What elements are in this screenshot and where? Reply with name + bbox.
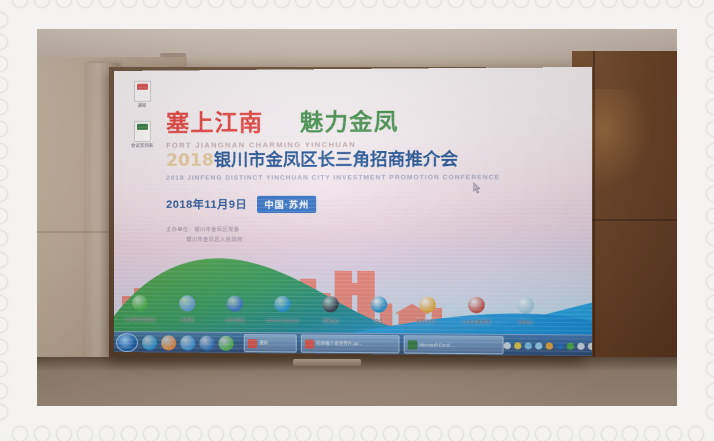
perforation-dot — [707, 275, 714, 289]
perforation-dot — [707, 78, 714, 92]
perforation-dot — [667, 0, 681, 7]
perforation-dot — [514, 427, 528, 441]
computer-icon[interactable]: 计算机 — [165, 293, 209, 323]
app-icon-glyph — [467, 297, 486, 318]
windows-taskbar[interactable]: 通知招商推介会宣传片.pp...Microsoft Excel ... 23:0… — [114, 331, 592, 356]
perforation-row-left — [0, 13, 7, 427]
perforation-dot — [707, 318, 714, 332]
perforation-dot — [707, 340, 714, 354]
safe360-icon-glyph — [131, 295, 149, 315]
taskbar-window-document-label: 通知 — [259, 340, 268, 346]
perforation-row-bottom — [13, 427, 711, 441]
taskbar-window-excel-label: Microsoft Excel ... — [419, 342, 455, 347]
security-quick-icon[interactable] — [199, 335, 214, 350]
perforation-dot — [0, 57, 7, 71]
system-tray[interactable]: 23:09 2018/11/8 — [504, 338, 592, 353]
perforation-dot — [340, 0, 354, 7]
perforation-dot — [0, 13, 7, 27]
mouse-pointer — [473, 182, 481, 193]
taskbar-window-excel-icon — [408, 340, 417, 349]
perforation-dot — [0, 340, 7, 354]
start-button[interactable] — [116, 333, 138, 352]
poster-subtitle: 2018银川市金凤区长三角招商推介会 — [166, 151, 578, 170]
perforation-dot — [707, 166, 714, 180]
antivirus-icon[interactable] — [546, 342, 553, 349]
perforation-dot — [253, 427, 267, 441]
perforation-dot — [122, 0, 136, 7]
perforation-dot — [707, 122, 714, 136]
perforation-dot — [707, 296, 714, 310]
messenger-quick-icon[interactable] — [180, 335, 195, 350]
perforation-dot — [35, 427, 49, 441]
recycle-bin-icon-glyph — [516, 297, 535, 318]
perforation-dot — [405, 0, 419, 7]
excel-file-icon[interactable]: 会议签到表 — [120, 121, 164, 149]
perforation-dot — [57, 427, 71, 441]
safe360-icon[interactable]: 360安全浏览器 — [118, 293, 162, 323]
perforation-dot — [536, 0, 550, 7]
perforation-dot — [275, 427, 289, 441]
perforation-dot — [623, 0, 637, 7]
excel-file-icon-glyph — [133, 121, 151, 141]
perforation-dot — [689, 0, 703, 7]
perforation-dot — [493, 0, 507, 7]
app-icon-label: USB设备管理 — [453, 319, 499, 325]
app-icon[interactable]: USB设备管理 — [453, 295, 499, 325]
computer-icon-glyph — [178, 295, 196, 315]
wps-icon-label: WPS表格 — [212, 318, 257, 324]
perforation-dot — [0, 318, 7, 332]
poster-date-row: 2018年11月9日 中国·苏州 — [166, 195, 578, 212]
perforation-dot — [471, 427, 485, 441]
perforation-dot — [707, 144, 714, 158]
perforation-dot — [0, 187, 7, 201]
perforation-dot — [645, 427, 659, 441]
perforation-dot — [209, 427, 223, 441]
perforation-dot — [0, 100, 7, 114]
usb-device-icon[interactable] — [514, 342, 521, 349]
perforation-dot — [296, 427, 310, 441]
wood-panel-edge — [593, 51, 595, 361]
perforation-dot — [209, 0, 223, 7]
perforation-dot — [536, 427, 550, 441]
computer-icon-label: 计算机 — [165, 317, 209, 323]
perforation-dot — [340, 427, 354, 441]
internet-explorer-icon-label: Internet Explorer — [260, 318, 305, 324]
perforation-dot — [144, 0, 158, 7]
perforation-dot — [707, 209, 714, 223]
perforation-dot — [0, 253, 7, 267]
taskbar-window-document-icon — [248, 339, 257, 348]
perforation-dot — [471, 0, 485, 7]
qq-icon[interactable]: 腾讯QQ — [308, 294, 353, 324]
qq-icon-label: 腾讯QQ — [308, 318, 353, 324]
conference-room-photo: 塞上江南 魅力金凤 FORT JIANGNAN CHARMING YINCHUA… — [37, 29, 677, 406]
wps-icon-glyph — [226, 296, 244, 316]
perforation-dot — [707, 384, 714, 398]
taskbar-window-ppt-icon — [305, 339, 314, 348]
perforation-dot — [689, 427, 703, 441]
qq-icon-glyph — [321, 296, 339, 316]
cloud-sync-icon[interactable] — [535, 342, 542, 349]
organizer-line-1: 主办单位：银川市金凤区党委 — [166, 226, 578, 237]
poster-date: 2018年11月9日 — [166, 196, 247, 212]
perforation-dot — [231, 0, 245, 7]
folder-icon-label: 招商资料... — [405, 319, 451, 325]
perforation-dot — [253, 0, 267, 7]
taskbar-window-ppt[interactable]: 招商推介会宣传片.pp... — [301, 334, 400, 353]
perforation-dot — [493, 427, 507, 441]
poster-headline: 塞上江南 魅力金凤 — [166, 110, 578, 136]
wechat-icon-label: 微信 — [356, 319, 401, 325]
perforation-dot — [78, 0, 92, 7]
poster-headline-english: FORT JIANGNAN CHARMING YINCHUAN — [166, 139, 578, 150]
document-file-icon[interactable]: 通知 — [120, 81, 164, 109]
perforation-dot — [0, 35, 7, 49]
wechat-quick-icon[interactable] — [219, 335, 234, 350]
document-file-icon-label: 通知 — [120, 103, 164, 109]
perforation-dot — [0, 362, 7, 376]
folder-icon-glyph — [418, 297, 437, 317]
perforation-dot — [0, 231, 7, 245]
perforation-dot — [13, 0, 27, 7]
perforation-dot — [558, 427, 572, 441]
perforation-dot — [78, 427, 92, 441]
perforation-dot — [100, 427, 114, 441]
taskbar-window-ppt-label: 招商推介会宣传片.pp... — [316, 341, 362, 347]
perforation-dot — [296, 0, 310, 7]
perforation-dot — [0, 166, 7, 180]
perforation-dot — [0, 122, 7, 136]
perforation-dot — [602, 0, 616, 7]
perforation-dot — [580, 0, 594, 7]
perforation-dot — [166, 427, 180, 441]
perforation-dot — [707, 253, 714, 267]
perforation-dot — [144, 427, 158, 441]
headline-part2: 魅力金凤 — [300, 109, 399, 136]
quick-launch-bar[interactable] — [138, 335, 234, 351]
perforation-dot — [707, 362, 714, 376]
taskbar-windows[interactable]: 通知招商推介会宣传片.pp...Microsoft Excel ... — [240, 334, 504, 354]
perforation-dot — [0, 144, 7, 158]
perforation-dot — [275, 0, 289, 7]
network-icon[interactable] — [525, 342, 532, 349]
taskbar-window-document[interactable]: 通知 — [244, 334, 297, 353]
perforation-dot — [384, 0, 398, 7]
perforation-dot — [707, 35, 714, 49]
show-desktop-icon[interactable] — [504, 342, 511, 349]
perforation-dot — [707, 13, 714, 27]
perforation-dot — [318, 427, 332, 441]
poster-subtitle-english: 2018 JINFENG DISTINCT YINCHUAN CITY INVE… — [166, 174, 578, 182]
poster-subtitle-cn: 银川市金凤区长三角招商推介会 — [214, 150, 458, 171]
update-icon[interactable] — [567, 342, 574, 349]
internet-explorer-quick-icon[interactable] — [142, 335, 157, 350]
input-method-icon[interactable] — [588, 342, 592, 349]
perforation-dot — [100, 0, 114, 7]
perforation-dot — [707, 57, 714, 71]
internet-explorer-icon[interactable]: Internet Explorer — [260, 294, 305, 324]
taskbar-window-excel[interactable]: Microsoft Excel ... — [404, 335, 504, 354]
perforation-dot — [0, 275, 7, 289]
organizer-line-2: 银川市金凤区人民政府 — [186, 236, 578, 247]
perforation-dot — [0, 78, 7, 92]
perforation-dot — [707, 231, 714, 245]
perforation-dot — [514, 0, 528, 7]
perforation-dot — [187, 0, 201, 7]
perforation-row-top — [13, 0, 711, 7]
perforation-dot — [362, 427, 376, 441]
perforation-dot — [427, 0, 441, 7]
perforation-dot — [318, 0, 332, 7]
folder-icon[interactable]: 招商资料... — [405, 294, 451, 324]
perforation-dot — [707, 100, 714, 114]
perforation-dot — [384, 427, 398, 441]
poster-organizers: 主办单位：银川市金凤区党委 银川市金凤区人民政府 — [166, 226, 578, 247]
perforation-dot — [667, 427, 681, 441]
stamp-frame: 塞上江南 魅力金凤 FORT JIANGNAN CHARMING YINCHUA… — [0, 0, 714, 434]
volume-icon[interactable] — [577, 342, 584, 349]
perforation-dot — [707, 405, 714, 419]
internet-explorer-icon-glyph — [273, 296, 291, 316]
perforation-dot — [449, 427, 463, 441]
media-player-quick-icon[interactable] — [161, 335, 176, 350]
perforation-dot — [57, 0, 71, 7]
perforation-dot — [166, 0, 180, 7]
perforation-dot — [645, 0, 659, 7]
wechat-icon[interactable]: 微信 — [356, 294, 401, 324]
perforation-dot — [405, 427, 419, 441]
perforation-row-right — [707, 13, 714, 427]
wps-icon[interactable]: WPS表格 — [212, 293, 257, 323]
perforation-dot — [427, 427, 441, 441]
perforation-dot — [362, 0, 376, 7]
poster-year: 2018 — [166, 151, 214, 171]
document-file-icon-glyph — [133, 81, 151, 101]
perforation-dot — [13, 427, 27, 441]
perforation-dot — [580, 427, 594, 441]
wechat-icon-glyph — [370, 296, 389, 316]
poster-city-badge: 中国·苏州 — [257, 196, 316, 213]
perforation-dot — [35, 0, 49, 7]
perforation-dot — [0, 384, 7, 398]
excel-file-icon-label: 会议签到表 — [120, 143, 164, 149]
perforation-dot — [122, 427, 136, 441]
perforation-dot — [231, 427, 245, 441]
perforation-dot — [558, 0, 572, 7]
perforation-dot — [707, 187, 714, 201]
recycle-bin-icon[interactable]: 回收站 — [503, 295, 549, 326]
headline-part1: 塞上江南 — [166, 110, 263, 137]
perforation-dot — [0, 296, 7, 310]
perforation-dot — [602, 427, 616, 441]
perforation-dot — [623, 427, 637, 441]
recycle-bin-icon-label: 回收站 — [503, 320, 549, 326]
bluetooth-icon[interactable] — [556, 342, 563, 349]
poster-text-block: 塞上江南 魅力金凤 FORT JIANGNAN CHARMING YINCHUA… — [166, 110, 578, 246]
perforation-dot — [449, 0, 463, 7]
tray-icon-group[interactable] — [504, 342, 592, 350]
screen-mount — [293, 359, 361, 366]
led-screen[interactable]: 塞上江南 魅力金凤 FORT JIANGNAN CHARMING YINCHUA… — [114, 67, 592, 356]
perforation-dot — [0, 209, 7, 223]
safe360-icon-label: 360安全浏览器 — [118, 317, 162, 323]
perforation-dot — [187, 427, 201, 441]
perforation-dot — [0, 405, 7, 419]
